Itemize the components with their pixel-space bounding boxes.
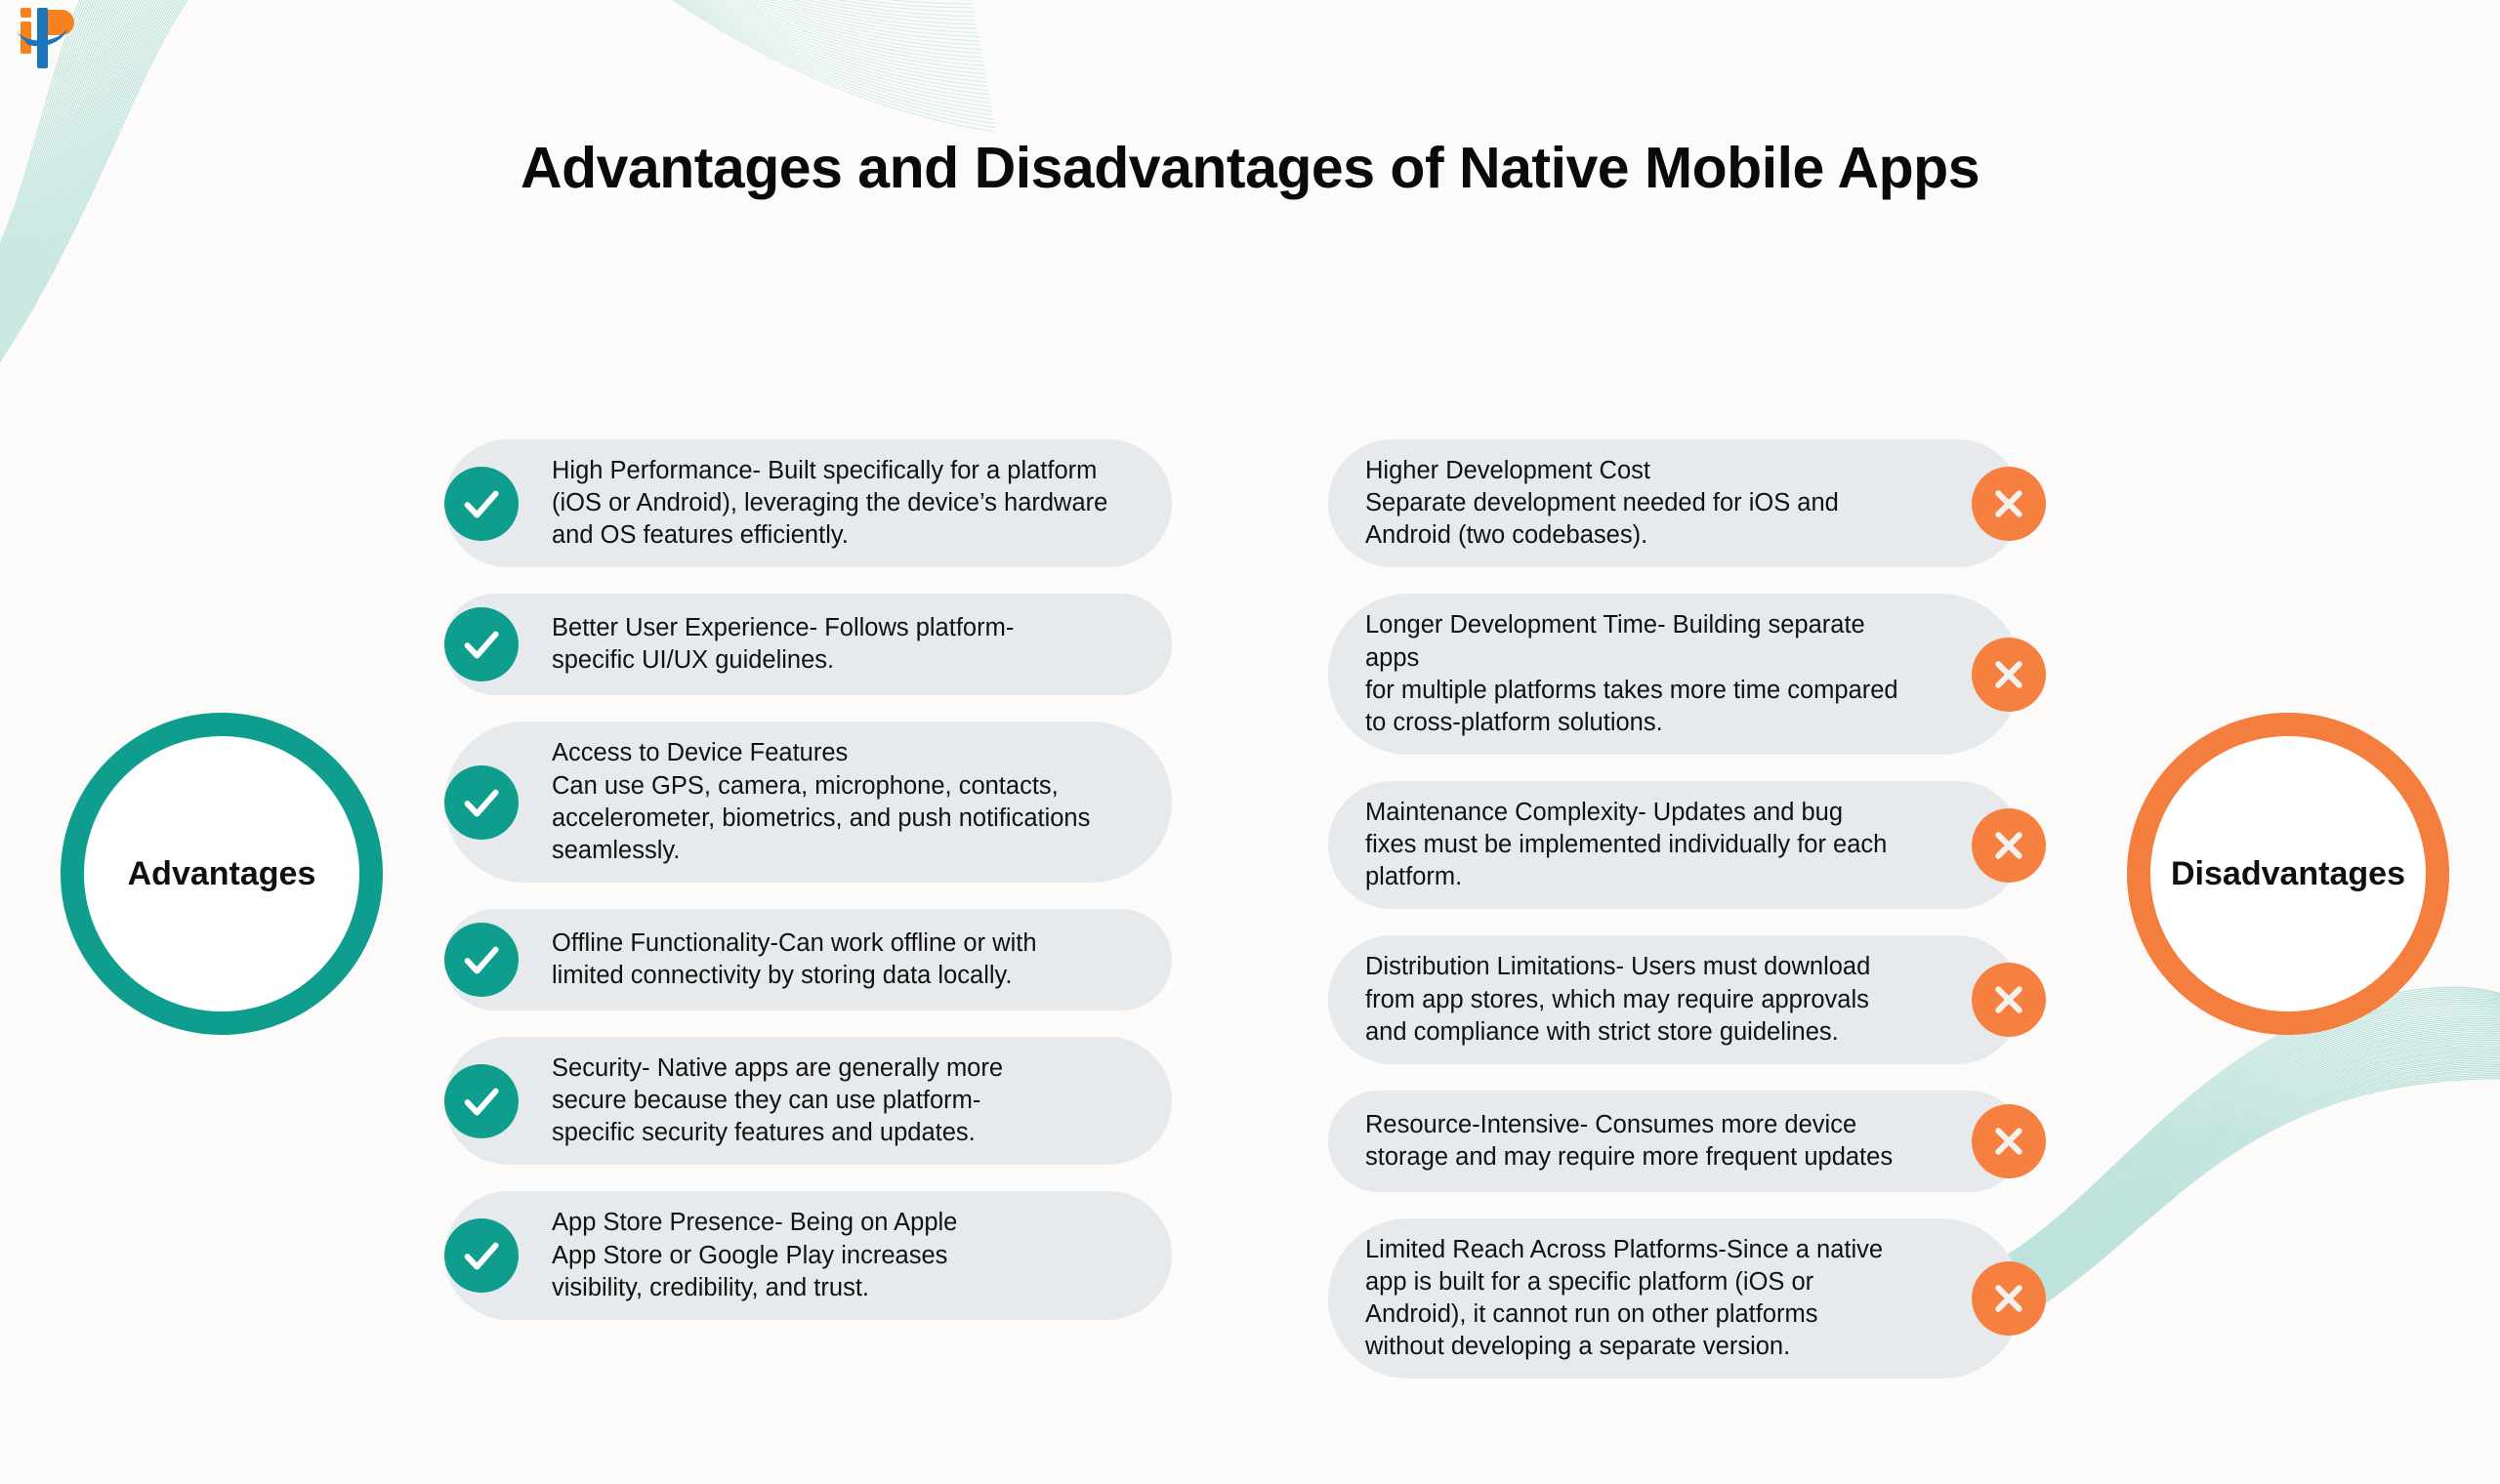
list-item: Higher Development Cost Separate develop… (1328, 439, 2021, 567)
disadvantages-list: Higher Development Cost Separate develop… (1328, 439, 2021, 1405)
disadvantage-text: Resource-Intensive- Consumes more device… (1365, 1109, 1893, 1174)
list-item: Longer Development Time- Building separa… (1328, 594, 2021, 755)
cross-icon (1972, 808, 2046, 883)
decorative-wave-top-middle (322, 0, 1006, 244)
cross-icon (1972, 1261, 2046, 1336)
list-item: Distribution Limitations- Users must dow… (1328, 935, 2021, 1063)
check-icon (444, 607, 519, 681)
disadvantage-text: Longer Development Time- Building separa… (1365, 609, 1914, 739)
disadvantage-pill: Distribution Limitations- Users must dow… (1328, 935, 2021, 1063)
advantages-circle-label: Advantages (61, 713, 383, 1035)
list-item: Maintenance Complexity- Updates and bug … (1328, 781, 2021, 909)
disadvantage-text: Limited Reach Across Platforms-Since a n… (1365, 1234, 1883, 1364)
disadvantage-pill: Maintenance Complexity- Updates and bug … (1328, 781, 2021, 909)
list-item: Security- Native apps are generally more… (444, 1037, 1172, 1165)
decorative-wave-top-left (0, 0, 625, 498)
advantage-text: High Performance- Built specifically for… (552, 455, 1107, 552)
disadvantage-pill: Resource-Intensive- Consumes more device… (1328, 1091, 2021, 1192)
advantage-text: Security- Native apps are generally more… (552, 1052, 1003, 1149)
disadvantage-pill: Longer Development Time- Building separa… (1328, 594, 2021, 755)
cross-icon (1972, 638, 2046, 712)
check-icon (444, 467, 519, 541)
advantages-list: High Performance- Built specifically for… (444, 439, 1172, 1346)
advantage-pill: High Performance- Built specifically for… (444, 439, 1172, 567)
advantages-label: Advantages (128, 855, 316, 893)
check-icon (444, 1218, 519, 1293)
list-item: Access to Device Features Can use GPS, c… (444, 721, 1172, 883)
advantage-text: App Store Presence- Being on Apple App S… (552, 1207, 957, 1303)
disadvantage-pill: Limited Reach Across Platforms-Since a n… (1328, 1218, 2021, 1380)
cross-icon (1972, 467, 2046, 541)
advantage-pill: Access to Device Features Can use GPS, c… (444, 721, 1172, 883)
advantage-text: Access to Device Features Can use GPS, c… (552, 737, 1090, 867)
advantage-pill: Offline Functionality-Can work offline o… (444, 909, 1172, 1010)
list-item: Limited Reach Across Platforms-Since a n… (1328, 1218, 2021, 1380)
disadvantage-text: Maintenance Complexity- Updates and bug … (1365, 797, 1887, 893)
disadvantages-label: Disadvantages (2171, 855, 2405, 893)
list-item: Resource-Intensive- Consumes more device… (1328, 1091, 2021, 1192)
ip-logo-icon (14, 6, 82, 70)
check-icon (444, 1064, 519, 1138)
advantage-pill: Security- Native apps are generally more… (444, 1037, 1172, 1165)
disadvantage-text: Distribution Limitations- Users must dow… (1365, 951, 1870, 1048)
advantage-text: Better User Experience- Follows platform… (552, 612, 1014, 677)
disadvantage-pill: Higher Development Cost Separate develop… (1328, 439, 2021, 567)
disadvantages-circle-label: Disadvantages (2127, 713, 2449, 1035)
cross-icon (1972, 963, 2046, 1037)
advantage-pill: Better User Experience- Follows platform… (444, 594, 1172, 695)
list-item: Better User Experience- Follows platform… (444, 594, 1172, 695)
advantage-text: Offline Functionality-Can work offline o… (552, 927, 1037, 992)
check-icon (444, 765, 519, 840)
page-title: Advantages and Disadvantages of Native M… (0, 135, 2500, 201)
cross-icon (1972, 1104, 2046, 1178)
list-item: High Performance- Built specifically for… (444, 439, 1172, 567)
list-item: Offline Functionality-Can work offline o… (444, 909, 1172, 1010)
check-icon (444, 923, 519, 997)
list-item: App Store Presence- Being on Apple App S… (444, 1191, 1172, 1319)
advantage-pill: App Store Presence- Being on Apple App S… (444, 1191, 1172, 1319)
disadvantage-text: Higher Development Cost Separate develop… (1365, 455, 1839, 552)
